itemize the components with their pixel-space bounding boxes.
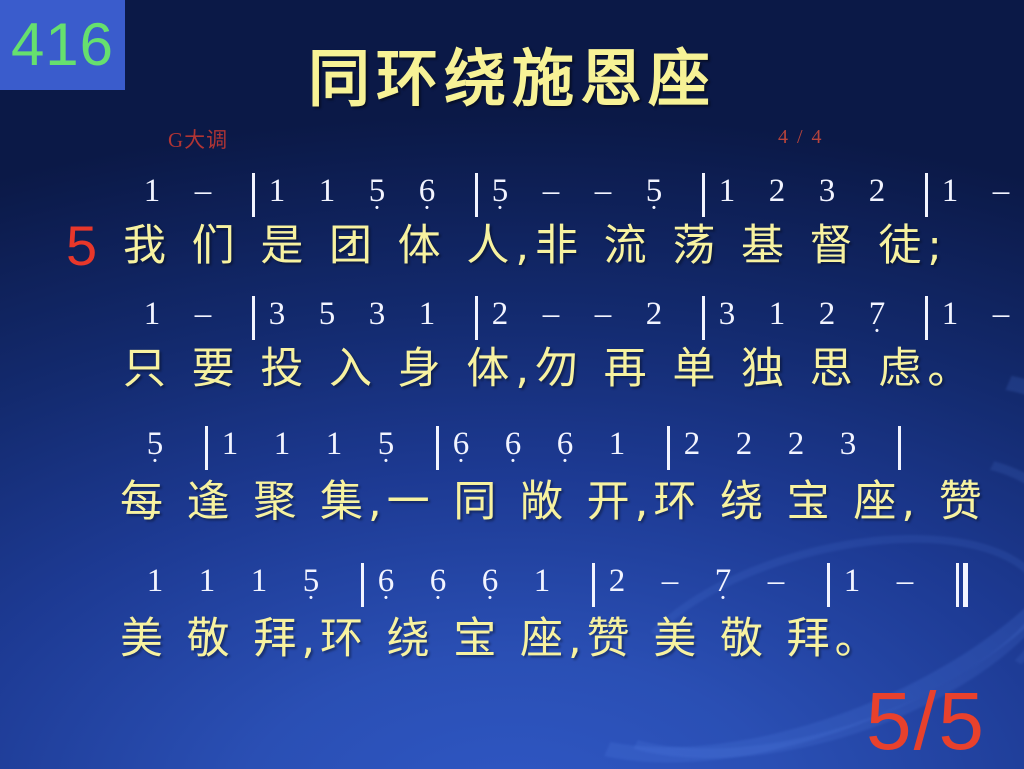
note: 1 <box>265 175 289 208</box>
note-dash: – <box>657 565 683 598</box>
note-low-octave: 5· <box>143 428 167 461</box>
note: 1 <box>938 175 962 208</box>
notation-row-4: 1115·6·6·6·12–7·–1– <box>143 565 974 609</box>
note: 1 <box>415 298 439 331</box>
note-dash: – <box>988 175 1014 208</box>
note: 2 <box>680 428 704 461</box>
note-low-octave: 7· <box>865 298 889 331</box>
octave-dot-below: · <box>374 585 398 611</box>
octave-dot-below: · <box>299 585 323 611</box>
note-low-octave: 5· <box>299 565 323 598</box>
barline <box>252 173 255 217</box>
key-signature: G大调 <box>168 124 228 154</box>
note-low-octave: 5· <box>374 428 398 461</box>
verse-number: 5 <box>66 218 97 274</box>
lyrics-row-4: 美 敬 拜,环 绕 宝 座,赞 美 敬 拜。 <box>120 618 883 661</box>
barline <box>436 426 439 470</box>
note-dash: – <box>763 565 789 598</box>
octave-dot-below: · <box>642 195 666 221</box>
note-low-octave: 5· <box>642 175 666 208</box>
note: 1 <box>605 428 629 461</box>
octave-dot-below: · <box>553 448 577 474</box>
octave-dot-below: · <box>501 448 525 474</box>
note: 1 <box>247 565 271 598</box>
barline <box>475 296 478 340</box>
note: 1 <box>715 175 739 208</box>
note: 3 <box>836 428 860 461</box>
note-low-octave: 5· <box>488 175 512 208</box>
note: 1 <box>270 428 294 461</box>
note: 2 <box>642 298 666 331</box>
notation-row-2: 1–35312––23127·1–– <box>140 298 1024 342</box>
barline <box>361 563 364 607</box>
note: 2 <box>488 298 512 331</box>
notation-row-1: 1–115·6·5·––5·12321–– <box>140 175 1024 219</box>
octave-dot-below: · <box>711 585 735 611</box>
note-dash: – <box>988 298 1014 331</box>
note-low-octave: 5· <box>365 175 389 208</box>
note-low-octave: 6· <box>426 565 450 598</box>
octave-dot-below: · <box>426 585 450 611</box>
note-low-octave: 6· <box>501 428 525 461</box>
lyrics-row-1: 我 们 是 团 体 人,非 流 荡 基 督 徒; <box>123 225 948 268</box>
time-signature: 4 / 4 <box>778 126 824 149</box>
note: 1 <box>140 175 164 208</box>
note-low-octave: 7· <box>711 565 735 598</box>
note-dash: – <box>190 298 216 331</box>
note-dash: – <box>590 175 616 208</box>
note: 1 <box>218 428 242 461</box>
note-dash: – <box>892 565 918 598</box>
note: 3 <box>265 298 289 331</box>
barline <box>475 173 478 217</box>
barline <box>592 563 595 607</box>
note: 3 <box>815 175 839 208</box>
octave-dot-below: · <box>478 585 502 611</box>
note-low-octave: 6· <box>415 175 439 208</box>
barline <box>205 426 208 470</box>
note: 3 <box>365 298 389 331</box>
barline <box>925 173 928 217</box>
note: 5 <box>315 298 339 331</box>
lyrics-row-2: 只 要 投 入 身 体,勿 再 单 独 思 虑。 <box>123 348 976 391</box>
note: 2 <box>784 428 808 461</box>
final-barline <box>956 563 968 607</box>
octave-dot-below: · <box>143 448 167 474</box>
note-dash: – <box>538 298 564 331</box>
note: 1 <box>140 298 164 331</box>
note-low-octave: 6· <box>449 428 473 461</box>
note: 1 <box>530 565 554 598</box>
note: 2 <box>732 428 756 461</box>
note: 1 <box>195 565 219 598</box>
notation-row-3: 5·1115·6·6·6·12223 <box>143 428 911 472</box>
page-number: 5/5 <box>866 681 986 763</box>
octave-dot-below: · <box>365 195 389 221</box>
note: 2 <box>765 175 789 208</box>
note-low-octave: 6· <box>374 565 398 598</box>
note-dash: – <box>538 175 564 208</box>
note: 2 <box>815 298 839 331</box>
barline <box>667 426 670 470</box>
note: 1 <box>765 298 789 331</box>
barline <box>898 426 901 470</box>
barline <box>702 173 705 217</box>
octave-dot-below: · <box>415 195 439 221</box>
note: 3 <box>715 298 739 331</box>
note: 2 <box>605 565 629 598</box>
barline <box>252 296 255 340</box>
hymn-slide: 416 同环绕施恩座 G大调 4 / 4 5 1–115·6·5·––5·123… <box>0 0 1024 769</box>
note: 1 <box>840 565 864 598</box>
barline <box>827 563 830 607</box>
note: 1 <box>322 428 346 461</box>
octave-dot-below: · <box>374 448 398 474</box>
note-low-octave: 6· <box>553 428 577 461</box>
octave-dot-below: · <box>488 195 512 221</box>
barline <box>925 296 928 340</box>
note-dash: – <box>590 298 616 331</box>
lyrics-row-3: 每 逢 聚 集,一 同 敞 开,环 绕 宝 座, 赞 <box>120 481 987 524</box>
note: 1 <box>143 565 167 598</box>
octave-dot-below: · <box>865 318 889 344</box>
note: 1 <box>315 175 339 208</box>
note-dash: – <box>190 175 216 208</box>
octave-dot-below: · <box>449 448 473 474</box>
note: 1 <box>938 298 962 331</box>
page-title: 同环绕施恩座 <box>0 28 1024 118</box>
note: 2 <box>865 175 889 208</box>
note-low-octave: 6· <box>478 565 502 598</box>
barline <box>702 296 705 340</box>
